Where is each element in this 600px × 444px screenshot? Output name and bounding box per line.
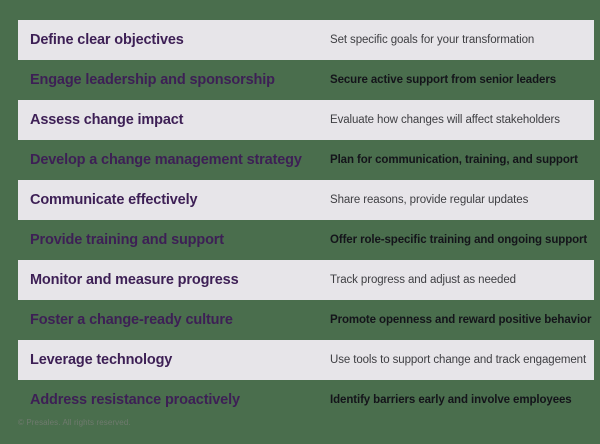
step-description: Secure active support from senior leader…: [330, 60, 594, 100]
footer-copyright: © Presales. All rights reserved.: [18, 418, 131, 427]
step-title: Develop a change management strategy: [18, 140, 330, 180]
step-title: Monitor and measure progress: [18, 260, 330, 300]
step-title: Assess change impact: [18, 100, 330, 140]
table-row[interactable]: Foster a change-ready culturePromote ope…: [18, 300, 594, 340]
table-row[interactable]: Provide training and supportOffer role-s…: [18, 220, 594, 260]
table-row[interactable]: Address resistance proactivelyIdentify b…: [18, 380, 594, 420]
table-row[interactable]: Communicate effectivelyShare reasons, pr…: [18, 180, 594, 220]
step-title: Leverage technology: [18, 340, 330, 380]
step-title: Address resistance proactively: [18, 380, 330, 420]
step-description: Share reasons, provide regular updates: [330, 180, 594, 220]
step-description: Set specific goals for your transformati…: [330, 20, 594, 60]
step-description: Promote openness and reward positive beh…: [330, 300, 594, 340]
table-row[interactable]: Define clear objectivesSet specific goal…: [18, 20, 594, 60]
table-row[interactable]: Engage leadership and sponsorshipSecure …: [18, 60, 594, 100]
step-title: Communicate effectively: [18, 180, 330, 220]
step-title: Engage leadership and sponsorship: [18, 60, 330, 100]
step-description: Evaluate how changes will affect stakeho…: [330, 100, 594, 140]
step-description: Track progress and adjust as needed: [330, 260, 594, 300]
table-row[interactable]: Develop a change management strategyPlan…: [18, 140, 594, 180]
step-title: Provide training and support: [18, 220, 330, 260]
step-description: Offer role-specific training and ongoing…: [330, 220, 594, 260]
slide-canvas: Define clear objectivesSet specific goal…: [0, 0, 600, 444]
step-description: Plan for communication, training, and su…: [330, 140, 594, 180]
step-description: Use tools to support change and track en…: [330, 340, 594, 380]
steps-table-body: Define clear objectivesSet specific goal…: [18, 20, 594, 420]
table-row[interactable]: Leverage technologyUse tools to support …: [18, 340, 594, 380]
table-row[interactable]: Monitor and measure progressTrack progre…: [18, 260, 594, 300]
change-management-steps-table: Define clear objectivesSet specific goal…: [18, 20, 594, 420]
step-title: Foster a change-ready culture: [18, 300, 330, 340]
step-title: Define clear objectives: [18, 20, 330, 60]
step-description: Identify barriers early and involve empl…: [330, 380, 594, 420]
table-row[interactable]: Assess change impactEvaluate how changes…: [18, 100, 594, 140]
